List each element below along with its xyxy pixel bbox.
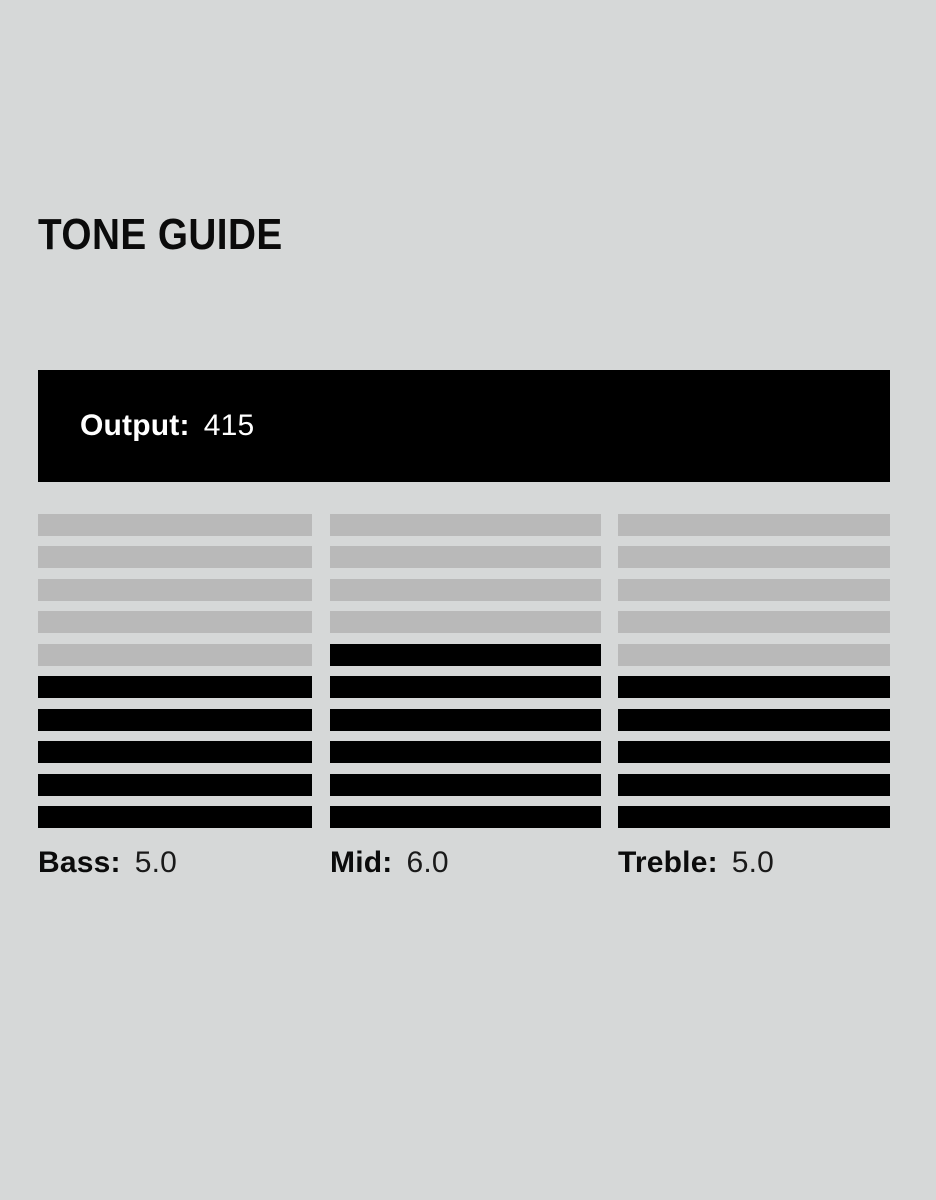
meter-segment[interactable]	[618, 644, 890, 666]
meter-segment[interactable]	[330, 579, 601, 601]
meter-segment[interactable]	[618, 709, 890, 731]
meter-segment[interactable]	[38, 806, 312, 828]
meter-segment[interactable]	[38, 611, 312, 633]
band-label-group: Bass: 5.0 Mid: 6.0 Treble: 5.0	[38, 846, 890, 890]
output-banner: Output: 415	[38, 370, 890, 482]
meter-segment[interactable]	[38, 579, 312, 601]
meter-segment[interactable]	[330, 644, 601, 666]
meter-segment[interactable]	[618, 676, 890, 698]
band-name-bass: Bass:	[38, 846, 121, 880]
band-label-treble: Treble: 5.0	[618, 846, 774, 880]
meter-segment[interactable]	[618, 806, 890, 828]
meter-group	[38, 514, 890, 828]
band-name-treble: Treble:	[618, 846, 718, 880]
band-name-mid: Mid:	[330, 846, 392, 880]
meter-segment[interactable]	[330, 514, 601, 536]
meter-segment[interactable]	[330, 774, 601, 796]
meter-column-mid[interactable]	[330, 514, 601, 828]
band-label-mid: Mid: 6.0	[330, 846, 449, 880]
meter-segment[interactable]	[330, 676, 601, 698]
meter-column-treble[interactable]	[618, 514, 890, 828]
meter-segment[interactable]	[330, 741, 601, 763]
band-label-bass: Bass: 5.0	[38, 846, 177, 880]
meter-segment[interactable]	[38, 774, 312, 796]
band-value-treble: 5.0	[732, 846, 774, 880]
meter-segment[interactable]	[38, 709, 312, 731]
meter-segment[interactable]	[38, 514, 312, 536]
meter-segment[interactable]	[618, 774, 890, 796]
meter-segment[interactable]	[330, 611, 601, 633]
meter-column-bass[interactable]	[38, 514, 312, 828]
meter-segment[interactable]	[38, 546, 312, 568]
meter-segment[interactable]	[618, 611, 890, 633]
meter-segment[interactable]	[618, 514, 890, 536]
meter-segment[interactable]	[618, 741, 890, 763]
meter-segment[interactable]	[38, 644, 312, 666]
output-label: Output:	[80, 409, 190, 443]
meter-segment[interactable]	[38, 741, 312, 763]
meter-segment[interactable]	[618, 579, 890, 601]
meter-segment[interactable]	[330, 709, 601, 731]
band-value-mid: 6.0	[406, 846, 448, 880]
meter-segment[interactable]	[330, 806, 601, 828]
meter-segment[interactable]	[618, 546, 890, 568]
meter-segment[interactable]	[38, 676, 312, 698]
page-title: TONE GUIDE	[38, 209, 283, 261]
tone-guide-panel: TONE GUIDE Output: 415 Bass: 5.0 Mid: 6.…	[0, 0, 936, 1200]
band-value-bass: 5.0	[135, 846, 177, 880]
meter-segment[interactable]	[330, 546, 601, 568]
output-row: Output: 415	[80, 370, 254, 482]
output-value: 415	[204, 409, 255, 443]
